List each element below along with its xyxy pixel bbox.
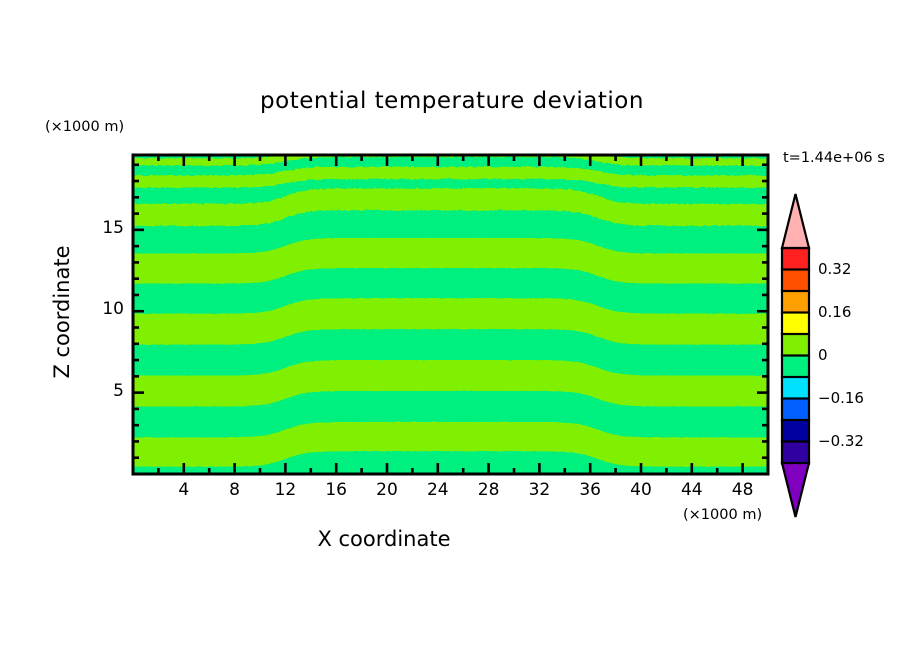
contour-plot [0,0,904,654]
figure-canvas: potential temperature deviation (×1000 m… [0,0,904,654]
colorbar-tick-label: −0.16 [818,389,864,407]
x-tick-label: 24 [418,480,458,500]
x-tick-label: 32 [519,480,559,500]
x-tick-label: 8 [215,480,255,500]
x-tick-label: 12 [265,480,305,500]
colorbar-tick-label: 0.16 [818,303,851,321]
colorbar-tick-label: −0.32 [818,432,864,450]
x-tick-label: 40 [621,480,661,500]
colorbar-tick-label: 0 [818,346,828,364]
y-tick-label: 10 [92,299,124,319]
x-tick-label: 16 [316,480,356,500]
x-tick-label: 20 [367,480,407,500]
colorbar [782,194,809,517]
x-tick-label: 4 [164,480,204,500]
y-tick-label: 15 [92,218,124,238]
x-tick-label: 36 [570,480,610,500]
y-tick-label: 5 [92,381,124,401]
colorbar-tick-label: 0.32 [818,260,851,278]
x-tick-label: 28 [469,480,509,500]
contour-field [129,149,772,478]
x-tick-label: 44 [672,480,712,500]
x-tick-label: 48 [723,480,763,500]
